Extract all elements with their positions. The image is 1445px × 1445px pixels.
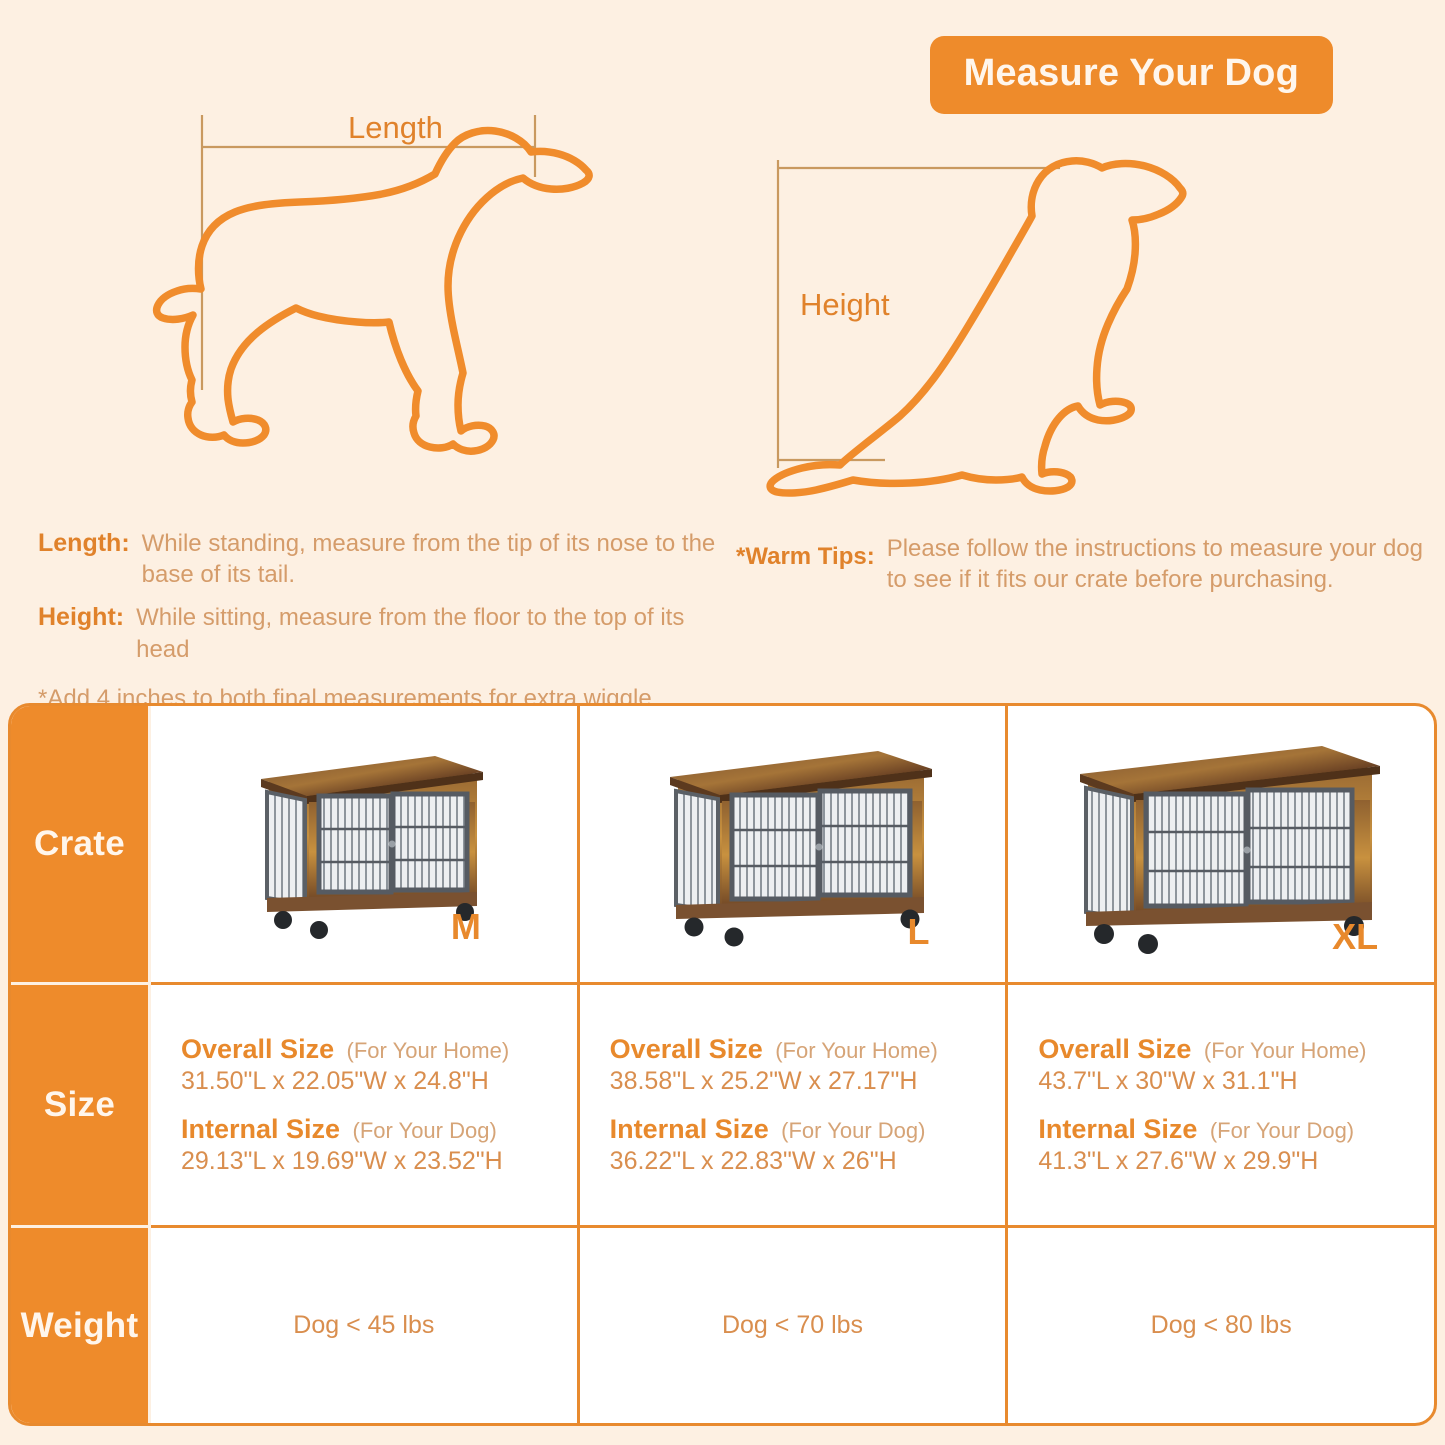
- overall-size-sub: (For Your Home): [775, 1038, 938, 1063]
- size-cell-xl: Overall Size (For Your Home) 43.7"L x 30…: [1005, 985, 1434, 1225]
- weight-value-xl: Dog < 80 lbs: [1151, 1311, 1292, 1340]
- internal-size-sub: (For Your Dog): [1210, 1118, 1354, 1143]
- weight-cell-m: Dog < 45 lbs: [151, 1228, 577, 1423]
- overall-size-heading-m: Overall Size (For Your Home): [181, 1034, 577, 1065]
- length-instruction-row: Length: While standing, measure from the…: [38, 528, 718, 590]
- crate-image-xl: XL: [1056, 724, 1386, 964]
- warm-tips-text: Please follow the instructions to measur…: [887, 533, 1436, 595]
- warm-tips-block: *Warm Tips: Please follow the instructio…: [736, 533, 1436, 607]
- weight-cell-l: Dog < 70 lbs: [577, 1228, 1006, 1423]
- internal-size-heading-m: Internal Size (For Your Dog): [181, 1114, 577, 1145]
- internal-size-sub: (For Your Dog): [781, 1118, 925, 1143]
- length-instruction-key: Length:: [38, 528, 130, 559]
- overall-size-label: Overall Size: [1038, 1034, 1191, 1064]
- internal-size-label: Internal Size: [610, 1114, 769, 1144]
- internal-size-value-l: 36.22"L x 22.83"W x 26"H: [610, 1147, 1006, 1176]
- overall-size-heading-l: Overall Size (For Your Home): [610, 1034, 1006, 1065]
- sitting-dog-outline-icon: [770, 161, 1183, 493]
- overall-size-value-m: 31.50"L x 22.05"W x 24.8"H: [181, 1067, 577, 1096]
- weight-value-l: Dog < 70 lbs: [722, 1311, 863, 1340]
- crate-image-l: L: [648, 729, 938, 959]
- overall-size-sub: (For Your Home): [347, 1038, 510, 1063]
- length-dimension-lines: [202, 115, 535, 390]
- height-dimension-label: Height: [800, 287, 890, 323]
- internal-size-sub: (For Your Dog): [353, 1118, 497, 1143]
- table-row-size: Size Overall Size (For Your Home) 31.50"…: [11, 982, 1434, 1225]
- overall-size-value-xl: 43.7"L x 30"W x 31.1"H: [1038, 1067, 1434, 1096]
- internal-size-value-m: 29.13"L x 19.69"W x 23.52"H: [181, 1147, 577, 1176]
- size-cell-l: Overall Size (For Your Home) 38.58"L x 2…: [577, 985, 1006, 1225]
- size-tag-xl: XL: [1332, 916, 1378, 958]
- warm-tips-row: *Warm Tips: Please follow the instructio…: [736, 533, 1436, 595]
- size-tag-l: L: [908, 911, 930, 953]
- sitting-dog-panel: [760, 150, 1220, 510]
- row-label-size: Size: [11, 982, 151, 1225]
- weight-cell-xl: Dog < 80 lbs: [1005, 1228, 1434, 1423]
- internal-size-heading-xl: Internal Size (For Your Dog): [1038, 1114, 1434, 1145]
- overall-size-value-l: 38.58"L x 25.2"W x 27.17"H: [610, 1067, 1006, 1096]
- crate-cell-m: M: [151, 706, 577, 982]
- internal-size-label: Internal Size: [181, 1114, 340, 1144]
- length-instruction-text: While standing, measure from the tip of …: [142, 528, 718, 590]
- row-label-weight: Weight: [11, 1225, 151, 1423]
- crate-image-m: M: [239, 734, 489, 954]
- table-row-crate: Crate: [11, 706, 1434, 982]
- crate-cell-xl: XL: [1005, 706, 1434, 982]
- weight-value-m: Dog < 45 lbs: [293, 1311, 434, 1340]
- crate-cell-l: L: [577, 706, 1006, 982]
- table-row-weight: Weight Dog < 45 lbs Dog < 70 lbs Dog < 8…: [11, 1225, 1434, 1423]
- height-instruction-row: Height: While sitting, measure from the …: [38, 602, 718, 664]
- captions-zone: Length: While standing, measure from the…: [0, 528, 1445, 693]
- length-dimension-label: Length: [348, 110, 443, 146]
- warm-tips-key: *Warm Tips:: [736, 533, 875, 572]
- internal-size-heading-l: Internal Size (For Your Dog): [610, 1114, 1006, 1145]
- header-badge-wrap: Measure Your Dog: [930, 36, 1333, 114]
- overall-size-label: Overall Size: [610, 1034, 763, 1064]
- height-instruction-key: Height:: [38, 602, 124, 633]
- overall-size-sub: (For Your Home): [1204, 1038, 1367, 1063]
- measure-your-dog-badge: Measure Your Dog: [930, 36, 1333, 114]
- internal-size-label: Internal Size: [1038, 1114, 1197, 1144]
- standing-dog-panel: [150, 95, 600, 505]
- internal-size-value-xl: 41.3"L x 27.6"W x 29.9"H: [1038, 1147, 1434, 1176]
- overall-size-heading-xl: Overall Size (For Your Home): [1038, 1034, 1434, 1065]
- size-cell-m: Overall Size (For Your Home) 31.50"L x 2…: [151, 985, 577, 1225]
- standing-dog-outline-icon: [157, 131, 590, 452]
- row-label-crate: Crate: [11, 706, 151, 982]
- size-comparison-table: Crate: [8, 703, 1437, 1426]
- overall-size-label: Overall Size: [181, 1034, 334, 1064]
- height-instruction-text: While sitting, measure from the floor to…: [136, 602, 718, 664]
- dog-crate-furniture-icon: [648, 729, 938, 954]
- size-tag-m: M: [451, 906, 481, 948]
